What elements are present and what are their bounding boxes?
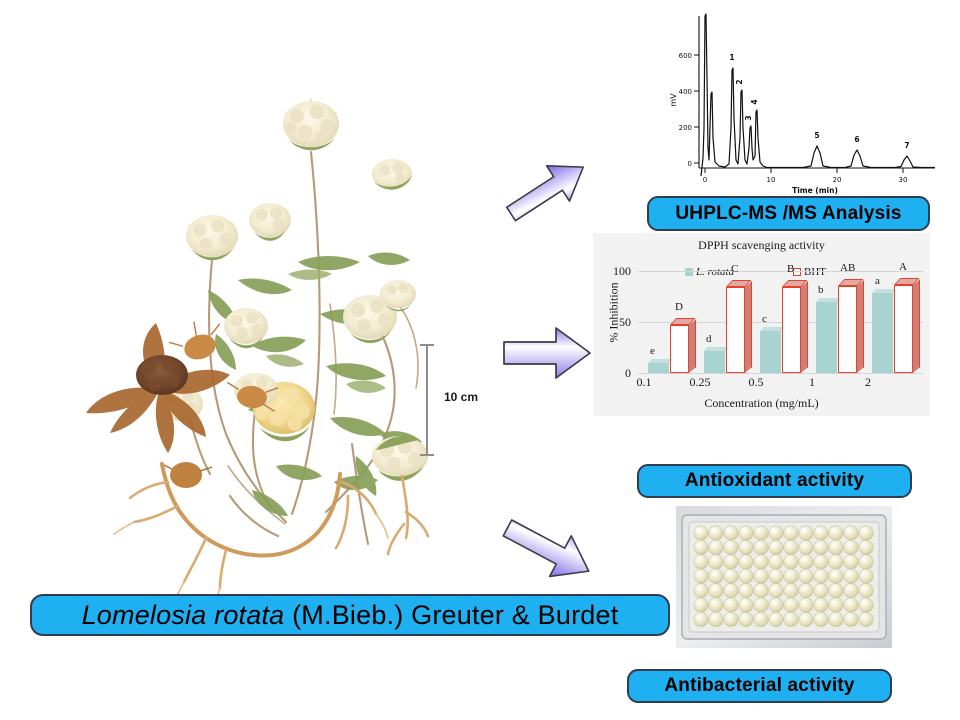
sig-letter-sample-4: a xyxy=(875,275,880,287)
x-tick-2: 0.5 xyxy=(734,375,778,390)
badge-antioxidant-label: Antioxidant activity xyxy=(685,470,864,492)
bar-group-1: d C xyxy=(704,271,756,373)
badge-antioxidant-activity[interactable]: Antioxidant activity xyxy=(637,464,912,498)
species-name-banner[interactable]: Lomelosia rotata (M.Bieb.) Greuter & Bur… xyxy=(30,594,670,636)
svg-text:3: 3 xyxy=(744,115,753,120)
bar-group-3: b AB xyxy=(816,271,868,373)
bar-standard-1[interactable] xyxy=(726,287,745,373)
chart-x-axis-label: Concentration (mg/mL) xyxy=(593,396,930,411)
y-tick-100: 100 xyxy=(601,264,631,279)
scale-bar-cap-bottom xyxy=(420,454,434,456)
uhplc-chromatogram: 0 200 400 600 mV 0 10 20 30 Time (min) xyxy=(663,8,943,196)
bar-sample-4[interactable] xyxy=(872,293,893,373)
bar-standard-3[interactable] xyxy=(838,286,857,373)
arrow-to-antioxidant xyxy=(500,322,594,384)
sig-letter-standard-0: D xyxy=(675,301,683,313)
sig-letter-standard-2: B xyxy=(787,263,794,275)
species-binomial: Lomelosia rotata xyxy=(82,600,285,630)
svg-text:mV: mV xyxy=(669,93,678,107)
badge-uhplc-label: UHPLC-MS /MS Analysis xyxy=(675,203,901,225)
svg-text:20: 20 xyxy=(833,176,842,184)
bar-standard-2[interactable] xyxy=(782,287,801,373)
y-tick-50: 50 xyxy=(601,315,631,330)
graphical-abstract: 10 cm xyxy=(0,0,960,720)
svg-text:0: 0 xyxy=(688,160,692,168)
bar-sample-0[interactable] xyxy=(648,363,669,373)
svg-text:1: 1 xyxy=(729,53,734,62)
x-tick-4: 2 xyxy=(846,375,890,390)
bar-sample-2[interactable] xyxy=(760,331,781,373)
arrow-to-antibacterial xyxy=(494,512,604,588)
bar-group-0: e D xyxy=(648,271,700,373)
svg-text:30: 30 xyxy=(899,176,908,184)
svg-text:Time (min): Time (min) xyxy=(792,186,838,195)
sig-letter-standard-3: AB xyxy=(840,262,855,274)
svg-text:0: 0 xyxy=(703,176,707,184)
bar-sample-1[interactable] xyxy=(704,351,725,373)
sig-letter-sample-1: d xyxy=(706,333,712,345)
bar-group-2: c B xyxy=(760,271,812,373)
bar-standard-0[interactable] xyxy=(670,325,689,373)
plant-specimen-photo xyxy=(30,4,470,594)
sig-letter-sample-3: b xyxy=(818,284,824,296)
species-authority: (M.Bieb.) Greuter & Burdet xyxy=(284,600,618,630)
bar-group-4: a A xyxy=(872,271,924,373)
svg-text:7: 7 xyxy=(904,141,909,150)
bar-sample-3[interactable] xyxy=(816,302,837,373)
scale-bar-line xyxy=(426,344,428,456)
sig-letter-sample-2: c xyxy=(762,313,767,325)
x-tick-3: 1 xyxy=(790,375,834,390)
chart-plot-area: e D d C c xyxy=(638,271,926,373)
gridline-0 xyxy=(638,373,923,374)
svg-text:600: 600 xyxy=(679,52,692,60)
badge-uhplc-analysis[interactable]: UHPLC-MS /MS Analysis xyxy=(647,196,930,231)
svg-text:4: 4 xyxy=(750,99,759,104)
sig-letter-sample-0: e xyxy=(650,345,655,357)
svg-text:6: 6 xyxy=(854,135,859,144)
sig-letter-standard-1: C xyxy=(731,263,738,275)
x-tick-1: 0.25 xyxy=(678,375,722,390)
svg-text:10: 10 xyxy=(767,176,776,184)
scale-bar: 10 cm xyxy=(418,338,478,462)
scale-bar-label: 10 cm xyxy=(444,390,478,404)
microplate-photo xyxy=(676,506,892,648)
badge-antibacterial-activity[interactable]: Antibacterial activity xyxy=(627,669,892,703)
x-tick-0: 0.1 xyxy=(622,375,666,390)
svg-text:200: 200 xyxy=(679,124,692,132)
svg-text:400: 400 xyxy=(679,88,692,96)
arrow-to-uhplc xyxy=(498,156,598,224)
svg-text:2: 2 xyxy=(735,79,744,84)
chart-title: DPPH scavenging activity xyxy=(593,238,930,253)
chart-y-axis-label: % Inhibition xyxy=(607,268,622,358)
badge-antibacterial-label: Antibacterial activity xyxy=(664,675,854,697)
svg-text:5: 5 xyxy=(814,131,819,140)
sig-letter-standard-4: A xyxy=(899,261,907,273)
dpph-bar-chart: DPPH scavenging activity L. rotata BHT %… xyxy=(593,233,930,416)
bar-standard-4[interactable] xyxy=(894,285,913,373)
